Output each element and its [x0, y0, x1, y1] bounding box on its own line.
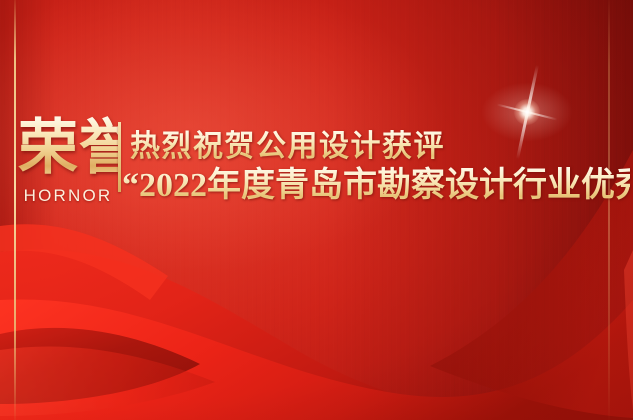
headline-line-2: “2022年度青岛市勘察设计行业优秀企业”等荣誉	[122, 166, 630, 206]
honor-title-cn: 荣誉	[18, 116, 118, 180]
banner-content: 荣誉 HORNOR 热烈祝贺公用设计获评 “2022年度青岛市勘察设计行业优秀企…	[0, 0, 633, 420]
honor-logo-block: 荣誉 HORNOR	[18, 116, 118, 206]
headline-line-1: 热烈祝贺公用设计获评	[130, 130, 630, 164]
honor-banner: 荣誉 HORNOR 热烈祝贺公用设计获评 “2022年度青岛市勘察设计行业优秀企…	[0, 0, 633, 420]
gold-divider	[118, 122, 121, 192]
headline-block: 热烈祝贺公用设计获评 “2022年度青岛市勘察设计行业优秀企业”等荣誉	[130, 130, 630, 206]
honor-title-en: HORNOR	[18, 186, 118, 206]
